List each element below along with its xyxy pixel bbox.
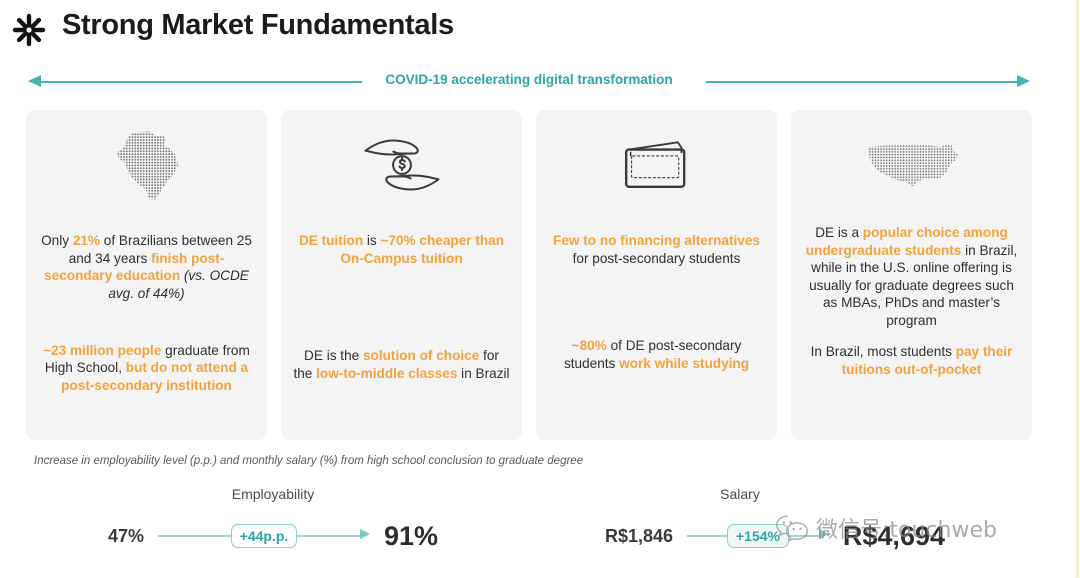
metrics-caption: Increase in employability level (p.p.) a… [34,455,583,467]
hands-holding-coin-icon [356,124,448,206]
arrow-line-right [706,81,1018,83]
card-statement-top: Only 21% of Brazilians between 25 and 34… [38,232,255,302]
statement-segment: DE is a [815,225,863,240]
slide-header: Strong Market Fundamentals [0,0,1080,58]
metric-delta-badge: +44p.p. [231,524,298,548]
connector-arrow-icon [360,529,370,539]
statement-segment: 21% [73,233,100,248]
wallet-icon [618,124,696,206]
statement-segment: DE tuition [299,233,363,248]
statement-segment: for post-secondary students [573,251,741,266]
statement-segment: Few to no financing alternatives [553,233,760,248]
statement-segment: ~80% [572,338,607,353]
slide-root: Strong Market Fundamentals COVID-19 acce… [0,0,1080,578]
fundamentals-card: DE is a popular choice among undergradua… [791,110,1032,440]
card-body: Few to no financing alternatives for pos… [548,216,765,430]
metric-end-value: 91% [384,521,438,552]
statement-segment: work while studying [619,356,749,371]
card-statement-top: DE tuition is ~70% cheaper than On-Campu… [293,232,510,267]
fundamentals-card: DE tuition is ~70% cheaper than On-Campu… [281,110,522,440]
metric-values: R$1,846 +154% R$4,694 [605,512,945,560]
card-statement-bottom: DE is the solution of choice for the low… [293,347,510,382]
metric-employability: Employability 47% +44p.p. 91% [108,486,438,562]
card-statement-bottom: ~80% of DE post-secondary students work … [548,337,765,372]
card-body: Only 21% of Brazilians between 25 and 34… [38,216,255,430]
metric-title: Salary [595,486,885,502]
card-statement-bottom: ~23 million people graduate from High Sc… [38,342,255,395]
page-title: Strong Market Fundamentals [62,9,454,42]
statement-segment: is [363,233,380,248]
card-body: DE tuition is ~70% cheaper than On-Campu… [293,216,510,430]
arrow-head-right-icon [1017,75,1030,87]
metric-salary: Salary R$1,846 +154% R$4,694 [605,486,945,562]
statement-segment: low-to-middle classes [316,366,457,381]
metric-start-value: 47% [108,526,144,547]
metric-title: Employability [118,486,428,502]
statement-segment: solution of choice [363,348,479,363]
asterisk-star-icon [12,13,46,47]
card-statement-top: Few to no financing alternatives for pos… [548,232,765,267]
metrics-row: Employability 47% +44p.p. 91% Salary R$1… [0,486,1080,566]
brazil-dotted-map-icon [106,124,188,206]
covid-trend-arrow-band: COVID-19 accelerating digital transforma… [26,68,1032,94]
card-statement-top: DE is a popular choice among undergradua… [803,224,1020,329]
card-body: DE is a popular choice among undergradua… [803,216,1020,430]
covid-band-label: COVID-19 accelerating digital transforma… [26,72,1032,87]
statement-segment: in Brazil [457,366,509,381]
statement-segment: In Brazil, most students [811,344,956,359]
connector-arrow-icon [819,529,829,539]
statement-segment: ~23 million people [43,343,161,358]
fundamentals-card: Only 21% of Brazilians between 25 and 34… [26,110,267,440]
metric-values: 47% +44p.p. 91% [108,512,438,560]
metric-delta-badge: +154% [727,524,789,548]
fundamentals-card: Few to no financing alternatives for pos… [536,110,777,440]
statement-segment: Only [41,233,73,248]
usa-dotted-map-icon [860,124,964,206]
fundamentals-card-row: Only 21% of Brazilians between 25 and 34… [26,110,1032,440]
metric-connector: +44p.p. [158,524,370,548]
metric-connector: +154% [687,524,829,548]
metric-start-value: R$1,846 [605,526,673,547]
statement-segment: DE is the [304,348,363,363]
metric-end-value: R$4,694 [843,521,945,552]
card-statement-bottom: In Brazil, most students pay their tuiti… [803,343,1020,378]
